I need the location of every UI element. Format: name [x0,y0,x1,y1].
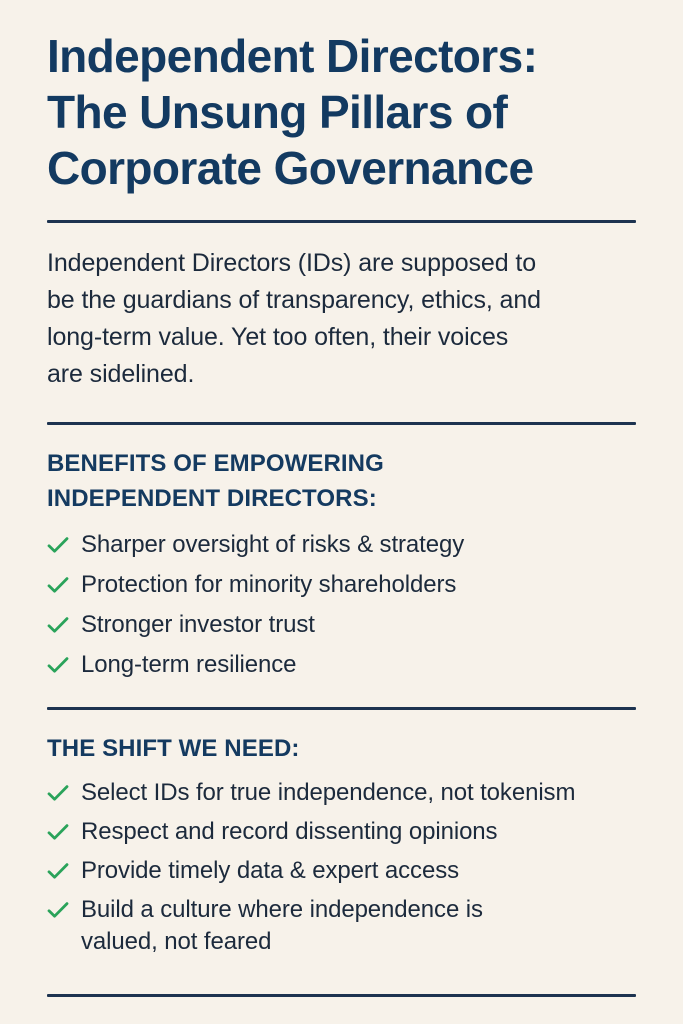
list-item-line: Stronger investor trust [81,609,315,641]
list-item-line: Sharper oversight of risks & strategy [81,529,464,561]
list-item-line: valued, not feared [81,926,483,958]
list-item: Provide timely data & expert access [47,855,636,887]
list-item-line: Protection for minority shareholders [81,569,456,601]
list-item: Long-term resilience [47,649,636,681]
list-item: Sharper oversight of risks & strategy [47,529,636,561]
list-item: Build a culture where independence is va… [47,894,636,958]
page-title-line-1: Independent Directors: [47,28,636,84]
list-item-line: Provide timely data & expert access [81,855,459,887]
list-item-line: Build a culture where independence is [81,894,483,926]
intro-line-1: Independent Directors (IDs) are supposed… [47,245,636,282]
page-title: Independent Directors: The Unsung Pillar… [47,28,636,196]
list-item-text: Provide timely data & expert access [81,855,459,887]
check-icon [47,777,69,809]
list-item: Respect and record dissenting opinions [47,816,636,848]
list-item-text: Stronger investor trust [81,609,315,641]
benefits-list: Sharper oversight of risks & strategy Pr… [47,516,636,681]
title-block: Independent Directors: The Unsung Pillar… [47,0,636,196]
shift-heading-line-1: THE SHIFT WE NEED: [47,731,636,766]
shift-section-heading: THE SHIFT WE NEED: [47,710,636,766]
benefits-heading-line-2: INDEPENDENT DIRECTORS: [47,481,636,516]
list-item-line: Select IDs for true independence, not to… [81,777,575,809]
list-item-text: Protection for minority shareholders [81,569,456,601]
intro-line-3: long-term value. Yet too often, their vo… [47,319,636,356]
check-icon [47,529,69,561]
list-item: Protection for minority shareholders [47,569,636,601]
list-item-text: Long-term resilience [81,649,296,681]
list-item-text: Build a culture where independence is va… [81,894,483,958]
list-item-line: Long-term resilience [81,649,296,681]
list-item: Select IDs for true independence, not to… [47,777,636,809]
shift-list: Select IDs for true independence, not to… [47,766,636,958]
list-item-line: Respect and record dissenting opinions [81,816,497,848]
check-icon [47,569,69,601]
list-item: Stronger investor trust [47,609,636,641]
benefits-heading-line-1: BENEFITS OF EMPOWERING [47,446,636,481]
list-item-text: Sharper oversight of risks & strategy [81,529,464,561]
benefits-section-heading: BENEFITS OF EMPOWERING INDEPENDENT DIREC… [47,425,636,516]
check-icon [47,894,69,926]
intro-line-2: be the guardians of transparency, ethics… [47,282,636,319]
page-title-line-3: Corporate Governance [47,140,636,196]
intro-line-4: are sidelined. [47,356,636,393]
divider-footer [47,994,636,997]
page-title-line-2: The Unsung Pillars of [47,84,636,140]
check-icon [47,816,69,848]
list-item-text: Select IDs for true independence, not to… [81,777,575,809]
infographic-poster: Independent Directors: The Unsung Pillar… [0,0,683,1024]
check-icon [47,609,69,641]
check-icon [47,649,69,681]
check-icon [47,855,69,887]
list-item-text: Respect and record dissenting opinions [81,816,497,848]
intro-paragraph: Independent Directors (IDs) are supposed… [47,223,636,393]
